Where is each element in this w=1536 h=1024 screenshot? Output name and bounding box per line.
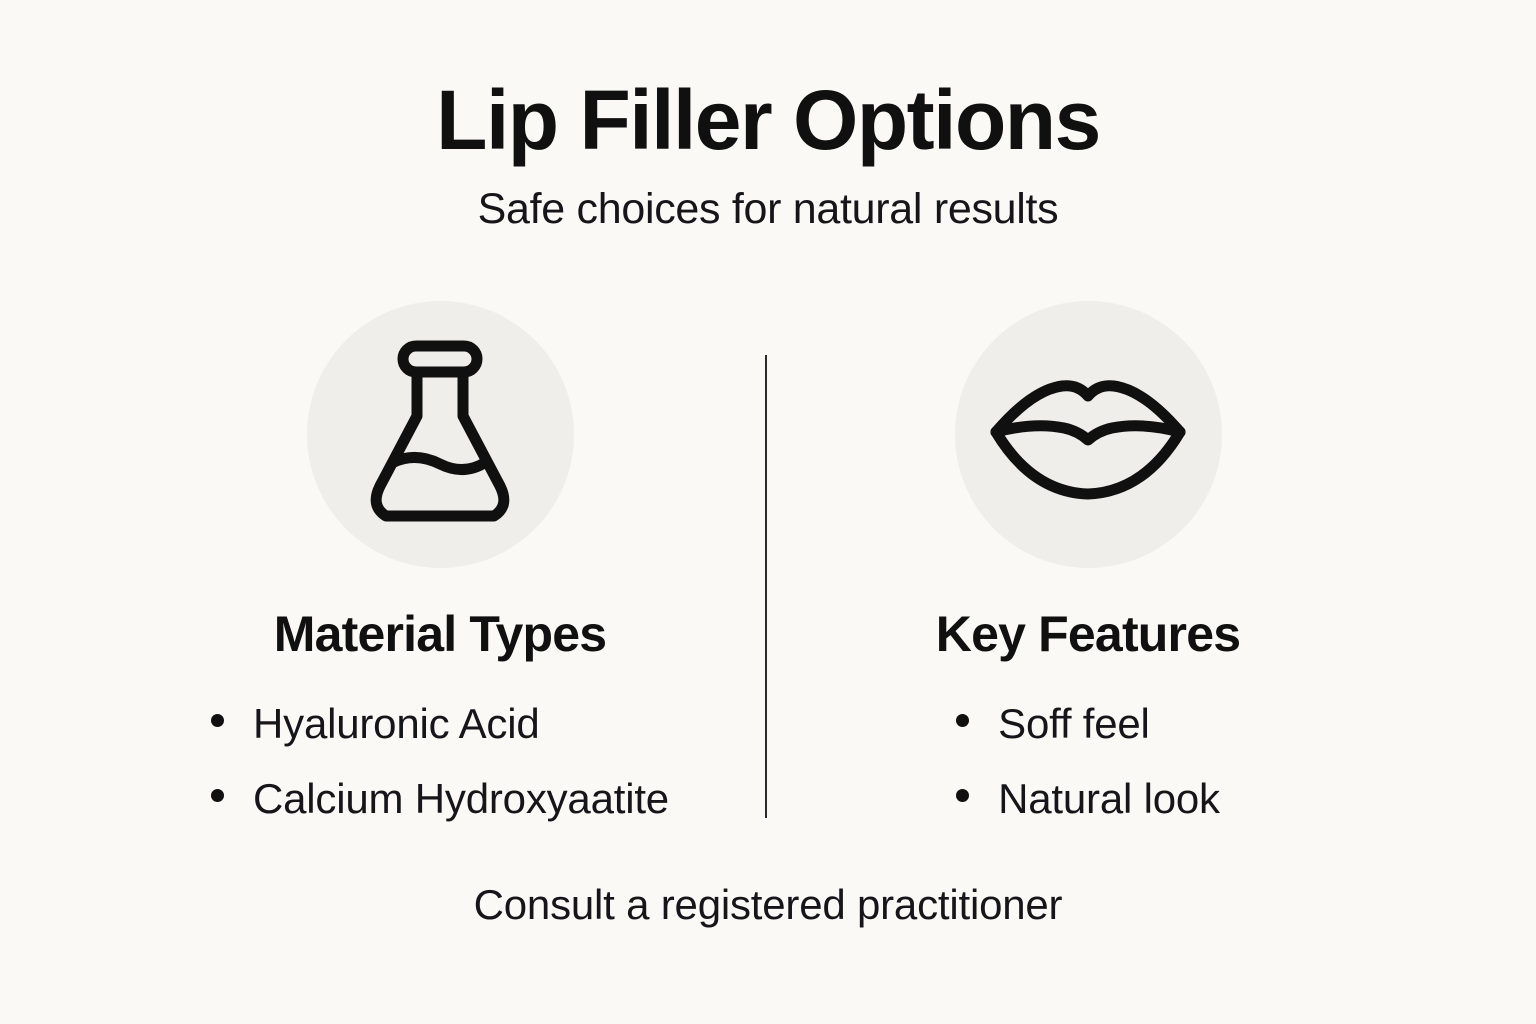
list-item-label: Soff feel xyxy=(998,703,1150,745)
list-item: Soff feel xyxy=(956,703,1220,745)
bullet-list-key-features: Soff feel Natural look xyxy=(956,703,1220,820)
footer-note: Consult a registered practitioner xyxy=(0,884,1536,926)
icon-circle-key-features xyxy=(955,301,1222,568)
header: Lip Filler Options Safe choices for natu… xyxy=(0,78,1536,231)
footer: Consult a registered practitioner xyxy=(0,884,1536,926)
bullet-dot-icon xyxy=(956,714,969,727)
list-item-label: Calcium Hydroxyaatite xyxy=(253,778,669,820)
section-heading-key-features: Key Features xyxy=(768,609,1408,659)
list-item: Natural look xyxy=(956,778,1220,820)
flask-icon xyxy=(360,340,520,530)
bullet-dot-icon xyxy=(211,714,224,727)
icon-circle-material-types xyxy=(307,301,574,568)
infographic-canvas: Lip Filler Options Safe choices for natu… xyxy=(0,0,1536,1024)
page-title: Lip Filler Options xyxy=(0,78,1536,162)
bullet-list-material-types: Hyaluronic Acid Calcium Hydroxyaatite xyxy=(211,703,669,820)
list-item-label: Natural look xyxy=(998,778,1220,820)
columns-container: Material Types Hyaluronic Acid Calcium H… xyxy=(0,301,1536,861)
column-key-features: Key Features Soff feel Natural look xyxy=(768,301,1408,820)
section-heading-material-types: Material Types xyxy=(120,609,760,659)
bullet-dot-icon xyxy=(956,789,969,802)
column-material-types: Material Types Hyaluronic Acid Calcium H… xyxy=(120,301,760,820)
list-item: Calcium Hydroxyaatite xyxy=(211,778,669,820)
list-item-label: Hyaluronic Acid xyxy=(253,703,539,745)
lips-icon xyxy=(988,370,1188,500)
bullet-dot-icon xyxy=(211,789,224,802)
page-subtitle: Safe choices for natural results xyxy=(0,188,1536,231)
list-item: Hyaluronic Acid xyxy=(211,703,669,745)
column-divider xyxy=(765,355,767,818)
